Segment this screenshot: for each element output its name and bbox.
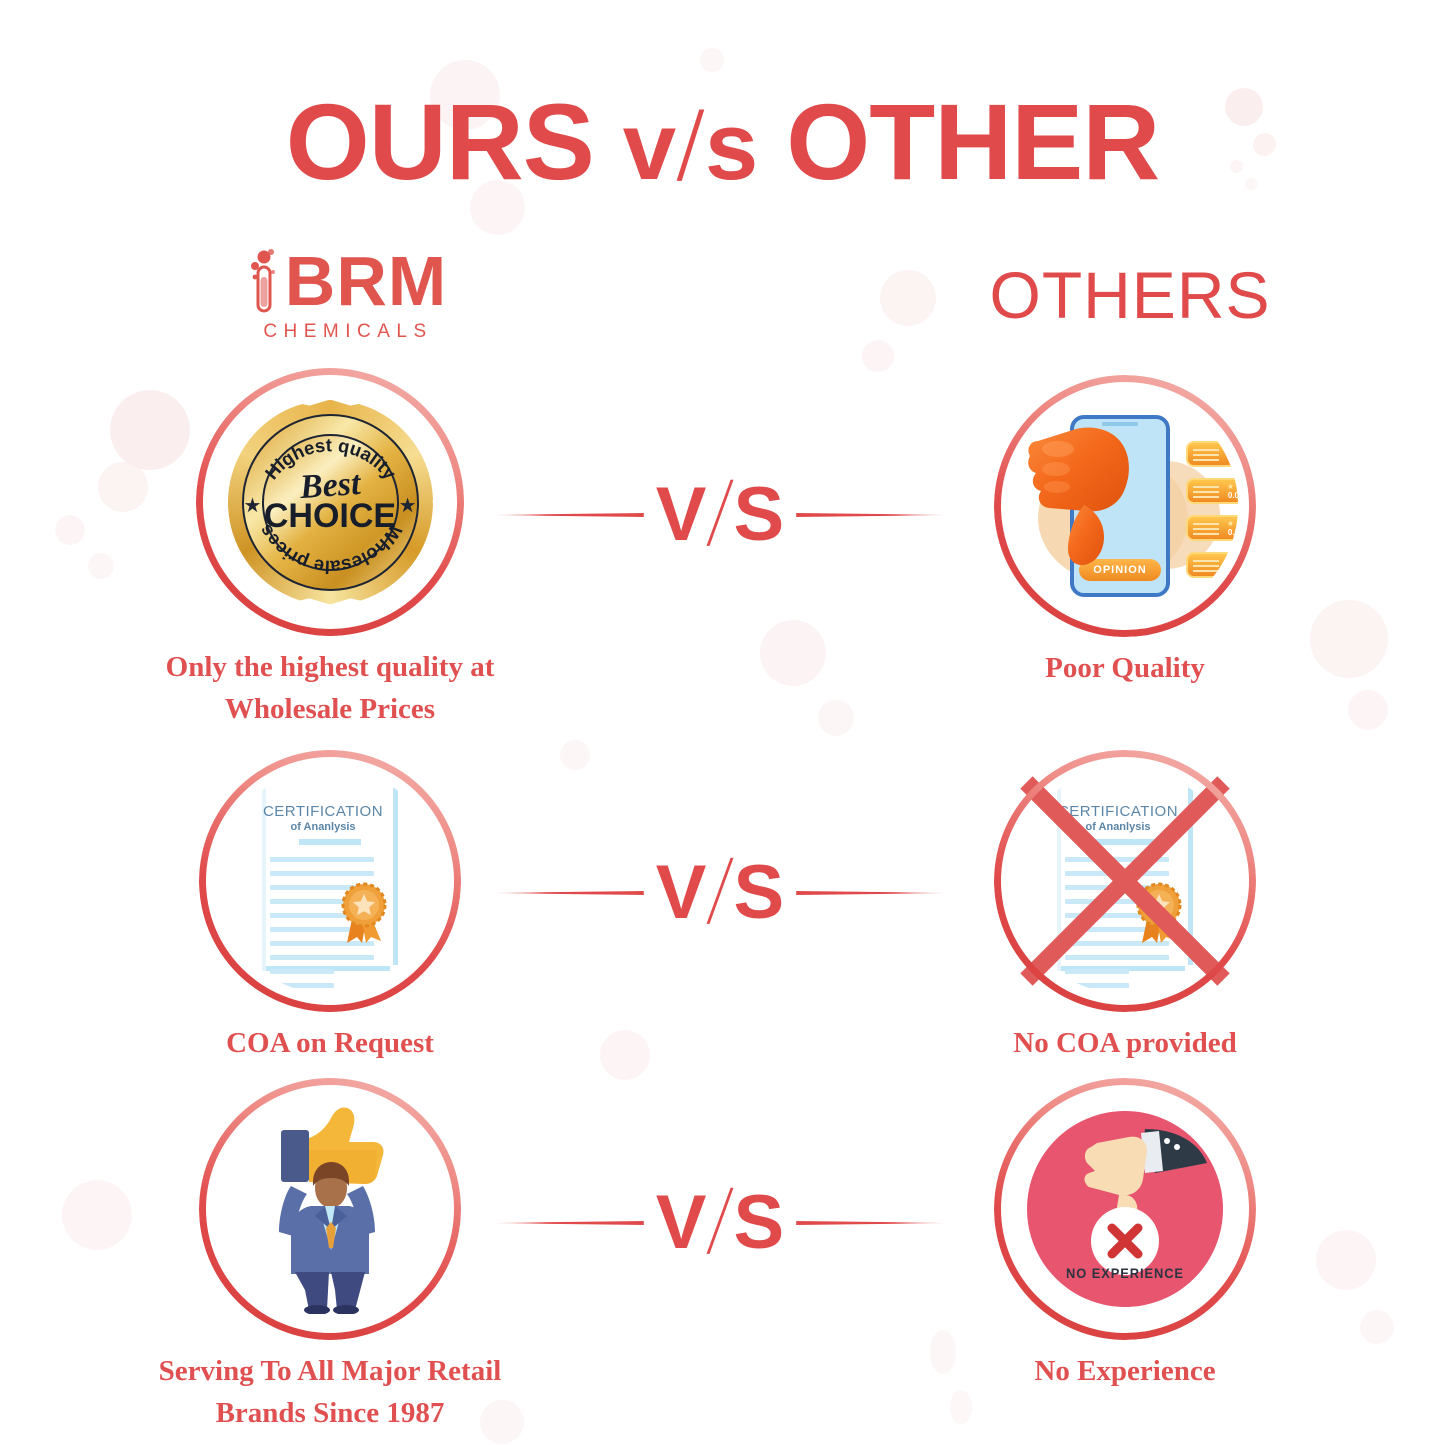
x-icon xyxy=(1103,1219,1147,1263)
ring-content xyxy=(217,1096,443,1322)
thumbs-down-icon xyxy=(1024,419,1154,569)
no-experience-illustration: NO EXPERIENCE xyxy=(1027,1111,1223,1307)
caption-line: COA on Request xyxy=(130,1022,530,1064)
row1-vs-divider: V/S xyxy=(480,470,960,560)
divider-s: S xyxy=(734,1185,785,1261)
bokeh-circle xyxy=(1360,1310,1394,1344)
divider-v: V xyxy=(656,477,707,553)
star-icon: ★ xyxy=(1227,482,1234,491)
row2-others-cell: CERTIFICATION of Ananlysis xyxy=(925,750,1325,1064)
star-icon: ★ xyxy=(1227,445,1234,454)
bokeh-circle xyxy=(600,1030,650,1080)
bokeh-circle xyxy=(818,700,854,736)
ring-content: NO EXPERIENCE xyxy=(1012,1096,1238,1322)
row3-others-caption: No Experience xyxy=(925,1350,1325,1392)
divider-s: S xyxy=(734,855,785,931)
bokeh-circle xyxy=(88,553,114,579)
certificate-title: CERTIFICATION xyxy=(1051,803,1185,820)
star-icon: ★ xyxy=(1227,519,1234,528)
brand-logo-ours: BRM CHEMICALS xyxy=(168,245,528,343)
title-s: s xyxy=(705,93,757,200)
caption-line: Only the highest quality at xyxy=(130,646,530,688)
businessman-thumbs-up-illustration xyxy=(245,1104,415,1314)
ring-frame: NO EXPERIENCE xyxy=(994,1078,1256,1340)
certificate-title: CERTIFICATION xyxy=(256,803,390,820)
rating-lines xyxy=(1193,560,1219,562)
certificate-subtitle: of Ananlysis xyxy=(256,821,390,833)
divider-s: S xyxy=(734,477,785,553)
rating-score: 0.0 xyxy=(1228,565,1238,574)
row2-ours-cell: CERTIFICATION of Ananlysis xyxy=(130,750,530,1064)
row1-ours-caption: Only the highest quality at Wholesale Pr… xyxy=(130,646,530,730)
divider-vs-text: V/S xyxy=(644,848,796,938)
page-title: OURS v/s OTHER xyxy=(0,88,1445,196)
caption-line: No COA provided xyxy=(925,1022,1325,1064)
bokeh-circle xyxy=(700,48,724,72)
row2-vs-divider: V/S xyxy=(480,848,960,938)
bokeh-circle xyxy=(62,1180,132,1250)
certificate-seal-icon xyxy=(1133,881,1185,945)
row3-ours-cell: Serving To All Major Retail Brands Since… xyxy=(130,1078,530,1434)
best-choice-badge: Highest quality Wholesale prices ★ ★ Bes… xyxy=(228,400,433,605)
bokeh-circle xyxy=(862,340,894,372)
row2-ours-caption: COA on Request xyxy=(130,1022,530,1064)
title-ours: OURS xyxy=(286,81,594,202)
rating-card: ★ 0.0 xyxy=(1186,478,1238,504)
caption-line: Poor Quality xyxy=(925,647,1325,689)
test-tube-icon xyxy=(249,245,279,317)
divider-vs-text: V/S xyxy=(644,1178,796,1268)
certificate-edge xyxy=(1188,785,1193,965)
ring-content: Highest quality Wholesale prices ★ ★ Bes… xyxy=(214,386,446,618)
row3-vs-divider: V/S xyxy=(480,1178,960,1268)
bokeh-circle xyxy=(1316,1230,1376,1290)
brand-subtitle: CHEMICALS xyxy=(168,321,528,343)
rating-card: ★ 0.0 xyxy=(1186,515,1238,541)
divider-line-right xyxy=(796,891,946,895)
badge-best-word: Best xyxy=(299,469,361,504)
ring-frame: Highest quality Wholesale prices ★ ★ Bes… xyxy=(196,368,464,636)
ring-content: CERTIFICATION of Ananlysis xyxy=(217,768,443,994)
certificate-bar xyxy=(299,839,361,845)
bokeh-circle xyxy=(55,515,85,545)
no-experience-label: NO EXPERIENCE xyxy=(1035,1265,1215,1281)
divider-line-right xyxy=(796,1221,946,1225)
ring-frame: OPINION ★ 0.0 ★ 0.0 ★ 0 xyxy=(994,375,1256,637)
bokeh-circle xyxy=(560,740,590,770)
badge-choice-word: CHOICE xyxy=(264,499,396,533)
ring-frame: CERTIFICATION of Ananlysis xyxy=(994,750,1256,1012)
rating-lines xyxy=(1193,486,1219,488)
row3-others-cell: NO EXPERIENCE No Experience xyxy=(925,1078,1325,1392)
row1-others-caption: Poor Quality xyxy=(925,647,1325,689)
divider-slash: / xyxy=(704,848,737,938)
rating-lines xyxy=(1193,523,1219,525)
badge-center-text: Best CHOICE xyxy=(228,400,433,605)
divider-line-left xyxy=(494,1221,644,1225)
rating-card: ★ 0.0 xyxy=(1186,441,1238,467)
certificate-bar xyxy=(1094,839,1156,845)
title-slash: / xyxy=(673,99,707,195)
row1-ours-cell: Highest quality Wholesale prices ★ ★ Bes… xyxy=(130,368,530,730)
caption-line: No Experience xyxy=(925,1350,1325,1392)
caption-line: Wholesale Prices xyxy=(130,688,530,730)
infographic-canvas: OURS v/s OTHER BRM CHEMICALS OTHERS xyxy=(0,0,1445,1445)
star-icon: ★ xyxy=(1227,556,1234,565)
certificate-illustration: CERTIFICATION of Ananlysis xyxy=(1051,783,1199,979)
divider-line-left xyxy=(494,513,644,517)
divider-line-left xyxy=(494,891,644,895)
rating-score: 0.0 xyxy=(1228,528,1238,537)
caption-line: Serving To All Major Retail xyxy=(130,1350,530,1392)
row1-others-cell: OPINION ★ 0.0 ★ 0.0 ★ 0 xyxy=(925,375,1325,689)
certificate-illustration: CERTIFICATION of Ananlysis xyxy=(256,783,404,979)
ring-content: CERTIFICATION of Ananlysis xyxy=(1012,768,1238,994)
row3-ours-caption: Serving To All Major Retail Brands Since… xyxy=(130,1350,530,1434)
rating-score: 0.0 xyxy=(1228,491,1238,500)
divider-slash: / xyxy=(704,470,737,560)
title-v: v xyxy=(623,93,675,200)
bokeh-circle xyxy=(1348,690,1388,730)
certificate-subtitle: of Ananlysis xyxy=(1051,821,1185,833)
brand-logo-others: OTHERS xyxy=(900,262,1360,328)
divider-slash: / xyxy=(704,1178,737,1268)
title-other: OTHER xyxy=(786,81,1159,202)
certificate-seal-icon xyxy=(338,881,390,945)
rating-card: ★ 0.0 xyxy=(1186,552,1238,578)
ring-frame: CERTIFICATION of Ananlysis xyxy=(199,750,461,1012)
divider-v: V xyxy=(656,855,707,931)
divider-v: V xyxy=(656,1185,707,1261)
certificate-edge xyxy=(393,785,398,965)
rating-lines xyxy=(1193,449,1219,451)
bokeh-circle xyxy=(760,620,826,686)
divider-line-right xyxy=(796,513,946,517)
divider-vs-text: V/S xyxy=(644,470,796,560)
ring-content: OPINION ★ 0.0 ★ 0.0 ★ 0 xyxy=(1012,393,1238,619)
ring-frame xyxy=(199,1078,461,1340)
poor-quality-illustration: OPINION ★ 0.0 ★ 0.0 ★ 0 xyxy=(1020,401,1230,611)
row2-others-caption: No COA provided xyxy=(925,1022,1325,1064)
brand-name: BRM xyxy=(285,246,447,316)
caption-line: Brands Since 1987 xyxy=(130,1392,530,1434)
rating-score: 0.0 xyxy=(1228,454,1238,463)
bokeh-circle xyxy=(950,1390,972,1424)
